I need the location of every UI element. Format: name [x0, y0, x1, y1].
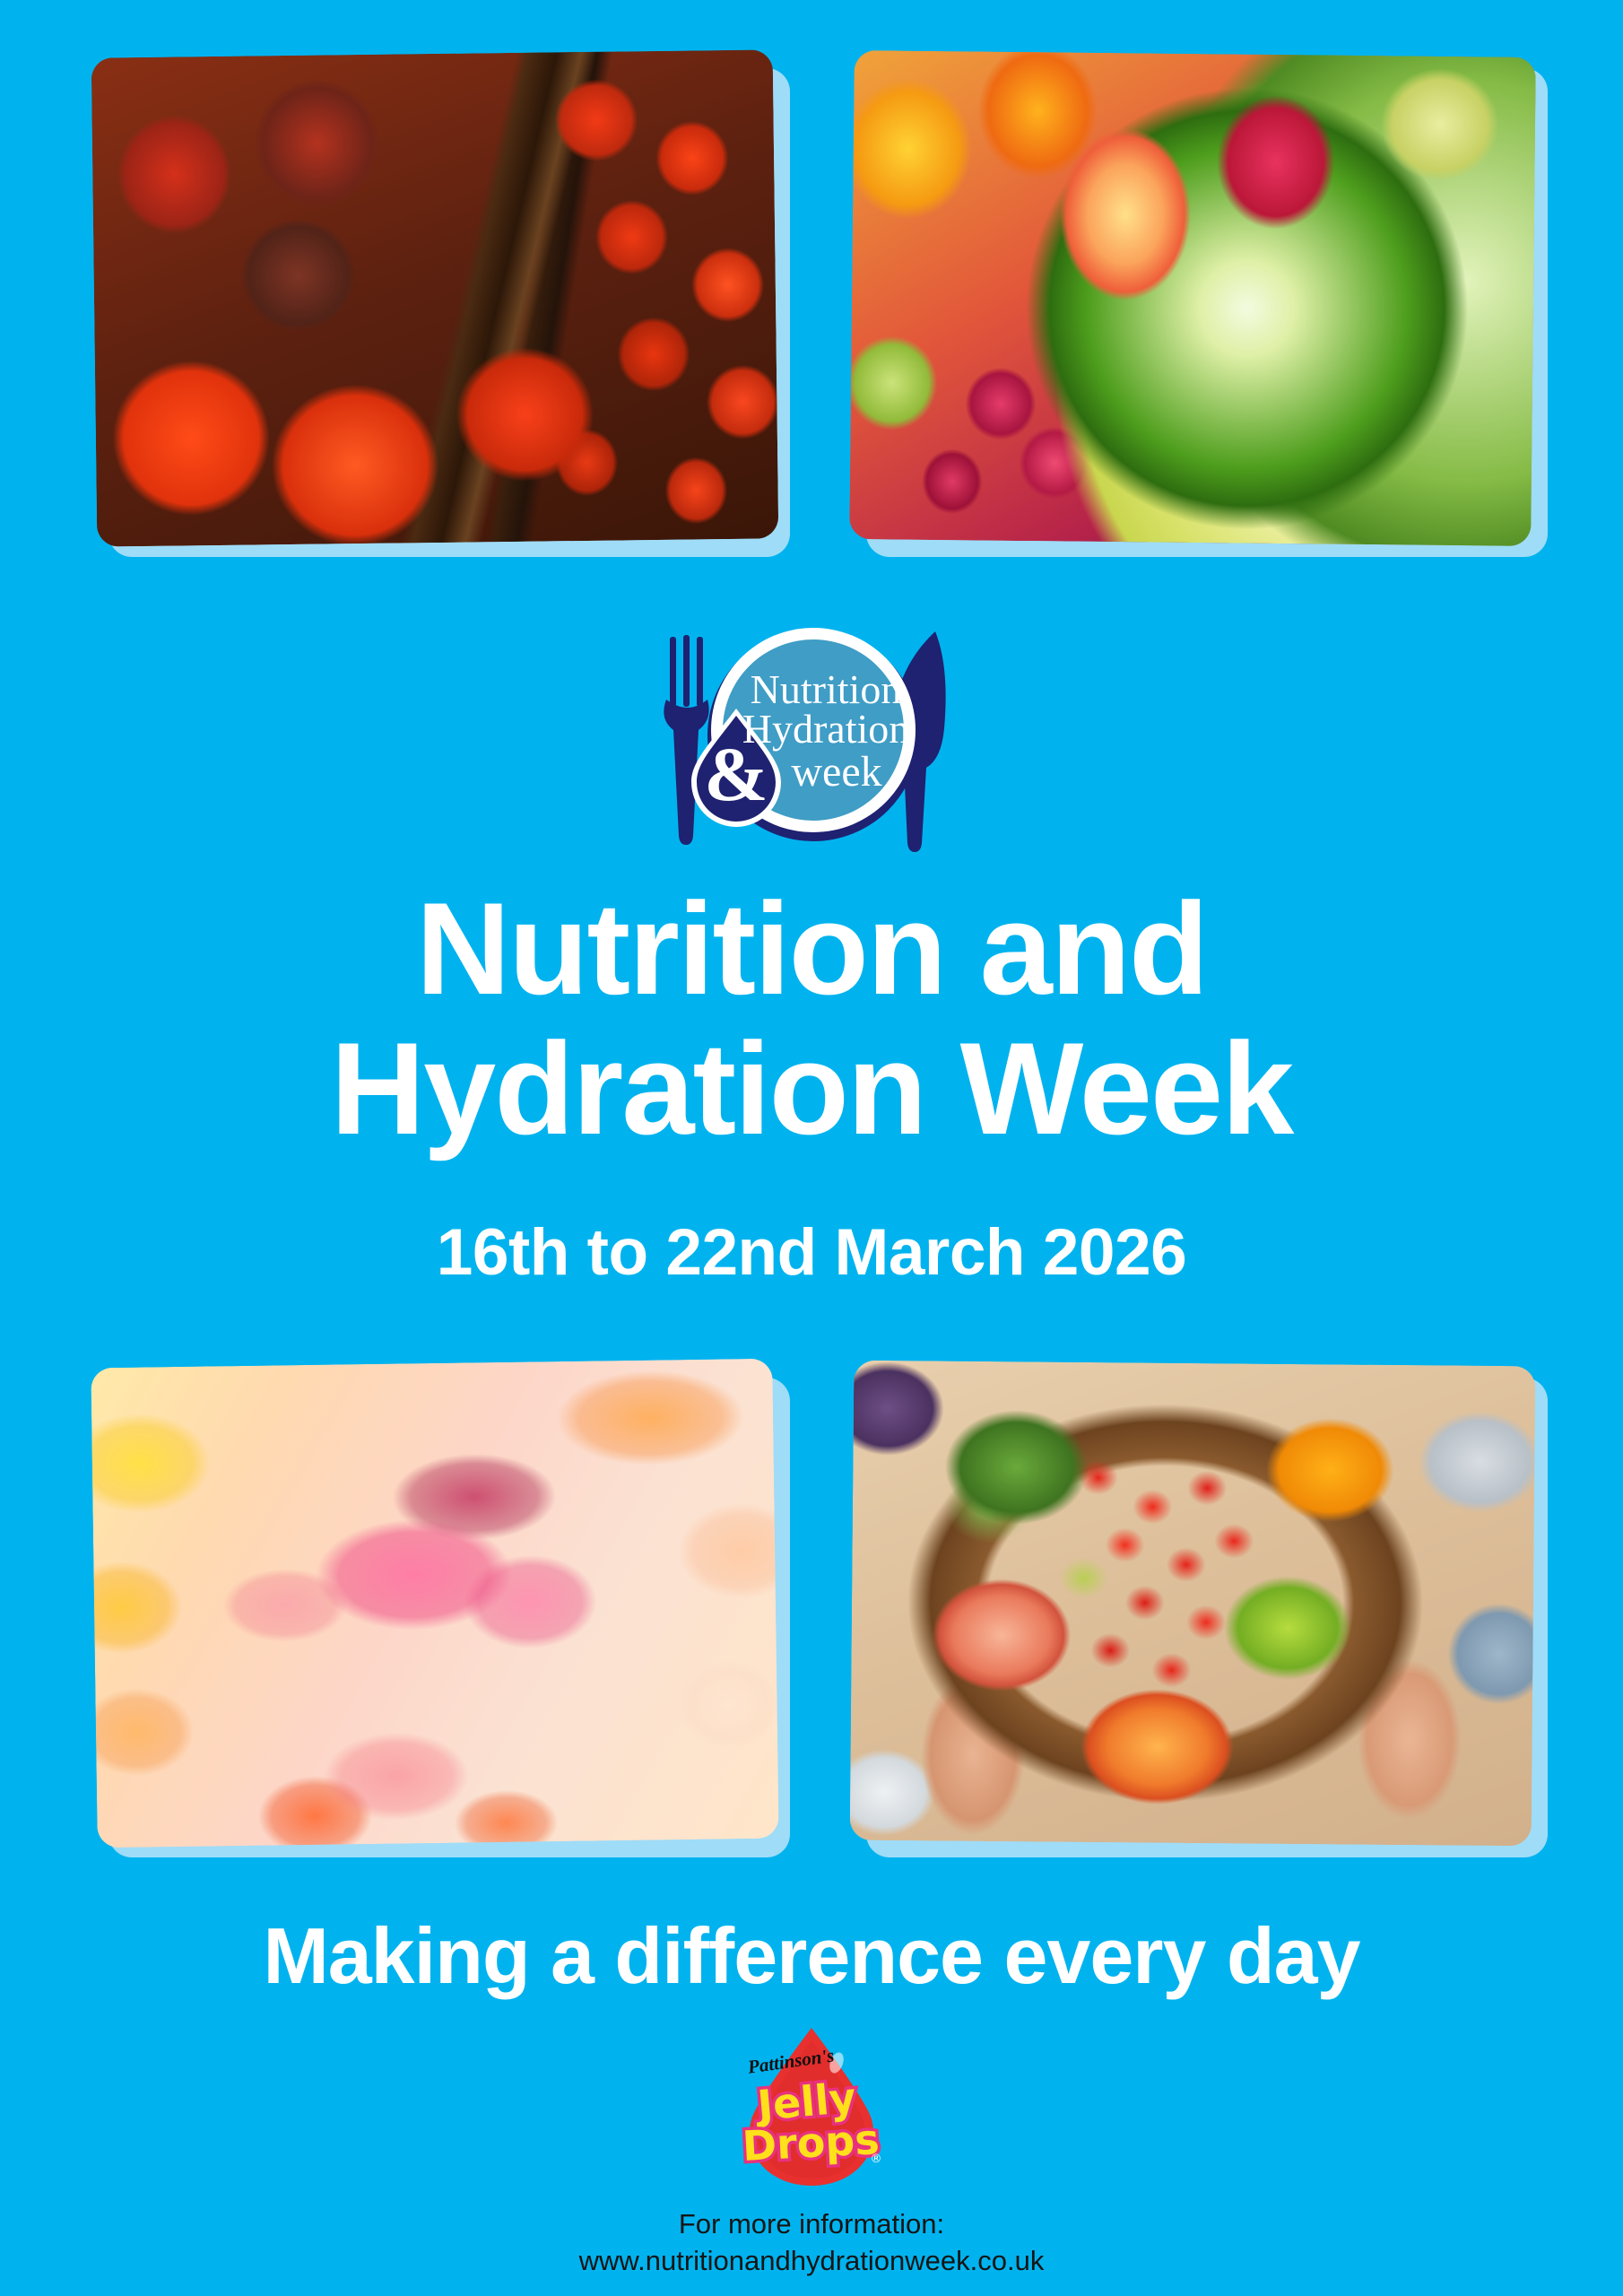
nutrition-hydration-week-logo: & Nutrition Hydration week	[650, 610, 973, 870]
photo-fruit	[852, 54, 1533, 543]
jelly-drops-svg: Pattinson's Jelly Drops ®	[722, 2022, 901, 2193]
photo-tomatoes	[94, 54, 776, 543]
photo-frame	[91, 1359, 778, 1848]
photo-heart-bowl	[852, 1363, 1533, 1843]
registered-mark: ®	[871, 2152, 882, 2166]
footer-url[interactable]: www.nutritionandhydrationweek.co.uk	[0, 2243, 1623, 2280]
poster-canvas: & Nutrition Hydration week Nutrition and…	[0, 0, 1623, 2296]
tagline: Making a difference every day	[0, 1910, 1623, 2002]
title-line-2: Hydration Week	[0, 1019, 1623, 1159]
footer-line-1: For more information:	[0, 2206, 1623, 2243]
photo-image-jelly	[91, 1359, 778, 1848]
photo-frame	[850, 1361, 1536, 1847]
logo-word-hydration: Hydration	[742, 706, 910, 752]
photo-frame	[849, 50, 1536, 546]
jelly-drops-logo: Pattinson's Jelly Drops ®	[722, 2022, 901, 2193]
fork-icon	[664, 635, 708, 845]
page-title: Nutrition and Hydration Week	[0, 879, 1623, 1159]
photo-image-fruit	[849, 50, 1536, 546]
photo-jelly-drops	[94, 1363, 776, 1843]
logo-word-week: week	[791, 748, 881, 796]
brand-line-2: Drops	[741, 2115, 880, 2170]
event-dates: 16th to 22nd March 2026	[0, 1215, 1623, 1290]
photo-frame	[91, 49, 779, 546]
photo-image-tomatoes	[91, 49, 779, 546]
title-line-1: Nutrition and	[0, 879, 1623, 1019]
footer: For more information: www.nutritionandhy…	[0, 2206, 1623, 2280]
logo-svg: & Nutrition Hydration week	[650, 610, 973, 870]
photo-image-heart	[850, 1361, 1536, 1847]
